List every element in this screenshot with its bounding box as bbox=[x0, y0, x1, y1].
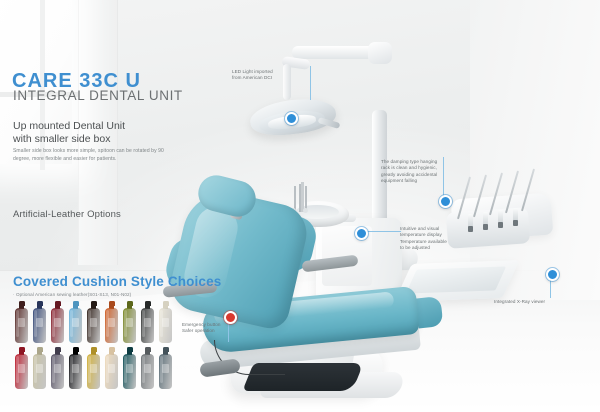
handpiece-grip-3 bbox=[498, 222, 503, 228]
headline-note: Smaller side box looks more simple, spit… bbox=[13, 148, 173, 163]
callout-leader-led bbox=[310, 66, 311, 100]
swatch-label bbox=[36, 364, 43, 373]
swatch-cream-peach[interactable] bbox=[105, 347, 118, 389]
swatch-slate-purple[interactable] bbox=[51, 347, 64, 389]
swatch-label bbox=[18, 318, 25, 327]
swatch-grey[interactable] bbox=[141, 347, 154, 389]
swatch-label bbox=[162, 364, 169, 373]
callout-temperature: Intuitive and visual temperature display… bbox=[400, 226, 476, 252]
product-poster: CARE 33C U INTEGRAL DENTAL UNIT Up mount… bbox=[0, 0, 600, 412]
callout-leader-temperature bbox=[363, 231, 401, 232]
callout-xray-line-1: Integrated X-Ray viewer bbox=[494, 299, 586, 305]
callout-dot-emergency-button[interactable] bbox=[224, 311, 237, 324]
swatch-burgundy[interactable] bbox=[51, 301, 64, 343]
swatch-label bbox=[90, 318, 97, 327]
swatch-dark-maroon[interactable] bbox=[15, 301, 28, 343]
swatch-blue-grey[interactable] bbox=[159, 347, 172, 389]
callout-led-light: LED Light imported from American DCI bbox=[232, 69, 304, 82]
swatch-charcoal[interactable] bbox=[141, 301, 154, 343]
swatch-label bbox=[108, 318, 115, 327]
callout-temp-line-4: to be adjusted bbox=[400, 245, 476, 251]
headline-line-2: with smaller side box bbox=[13, 133, 125, 146]
callout-hanging-rack: The damping type hanging rack is clean a… bbox=[381, 159, 467, 185]
callout-leader-rack bbox=[443, 157, 444, 197]
swatch-label bbox=[144, 364, 151, 373]
swatch-olive-green[interactable] bbox=[123, 301, 136, 343]
page-subtitle: INTEGRAL DENTAL UNIT bbox=[13, 88, 183, 103]
swatch-sand-beige[interactable] bbox=[33, 347, 46, 389]
callout-rack-line-4: equipment falling bbox=[381, 178, 467, 184]
headline-text: Up mounted Dental Unit with smaller side… bbox=[13, 120, 125, 145]
swatch-label bbox=[126, 318, 133, 327]
callout-dot-temperature[interactable] bbox=[355, 227, 368, 240]
swatch-label bbox=[162, 318, 169, 327]
swatch-crimson-red[interactable] bbox=[15, 347, 28, 389]
swatch-label bbox=[90, 364, 97, 373]
swatch-label bbox=[144, 318, 151, 327]
callout-dot-led-light[interactable] bbox=[285, 112, 298, 125]
assistant-tip-2 bbox=[303, 208, 308, 213]
headline-line-1: Up mounted Dental Unit bbox=[13, 120, 125, 133]
swatch-row-2 bbox=[15, 347, 172, 389]
cushion-section-note: · Optional American sewing leather(S01-S… bbox=[13, 292, 131, 297]
handpiece-grip-4 bbox=[513, 220, 518, 226]
swatch-label bbox=[36, 318, 43, 327]
callout-dot-xray-viewer[interactable] bbox=[546, 268, 559, 281]
swatch-label bbox=[54, 318, 61, 327]
xray-viewer-screen bbox=[406, 266, 506, 293]
assistant-hose-2 bbox=[299, 184, 301, 212]
callout-xray: Integrated X-Ray viewer bbox=[494, 299, 586, 305]
callout-emergency: Emergency button Safer operation bbox=[182, 322, 244, 335]
cushion-section-title: Covered Cushion Style Choices bbox=[13, 274, 221, 289]
swatch-dark-espresso[interactable] bbox=[87, 301, 100, 343]
callout-dot-hanging-rack[interactable] bbox=[439, 195, 452, 208]
swatch-navy-blue[interactable] bbox=[33, 301, 46, 343]
swatch-label bbox=[54, 364, 61, 373]
swatch-label bbox=[72, 318, 79, 327]
swatch-teal-dark[interactable] bbox=[123, 347, 136, 389]
swatch-label bbox=[126, 364, 133, 373]
swatch-label bbox=[108, 364, 115, 373]
leather-options-title: Artificial-Leather Options bbox=[13, 209, 121, 220]
swatch-black[interactable] bbox=[69, 347, 82, 389]
swatch-orange[interactable] bbox=[105, 301, 118, 343]
callout-led-line-2: from American DCI bbox=[232, 75, 304, 81]
callout-emergency-line-2: Safer operation bbox=[182, 328, 244, 334]
swatch-label bbox=[18, 364, 25, 373]
swatch-mustard-yellow[interactable] bbox=[87, 347, 100, 389]
handpiece-grip-2 bbox=[483, 224, 488, 230]
swatch-ivory[interactable] bbox=[159, 301, 172, 343]
swatch-sky-blue[interactable] bbox=[69, 301, 82, 343]
swatch-label bbox=[72, 364, 79, 373]
swatch-row-1 bbox=[15, 301, 172, 343]
lamp-arm-joint bbox=[368, 42, 392, 64]
